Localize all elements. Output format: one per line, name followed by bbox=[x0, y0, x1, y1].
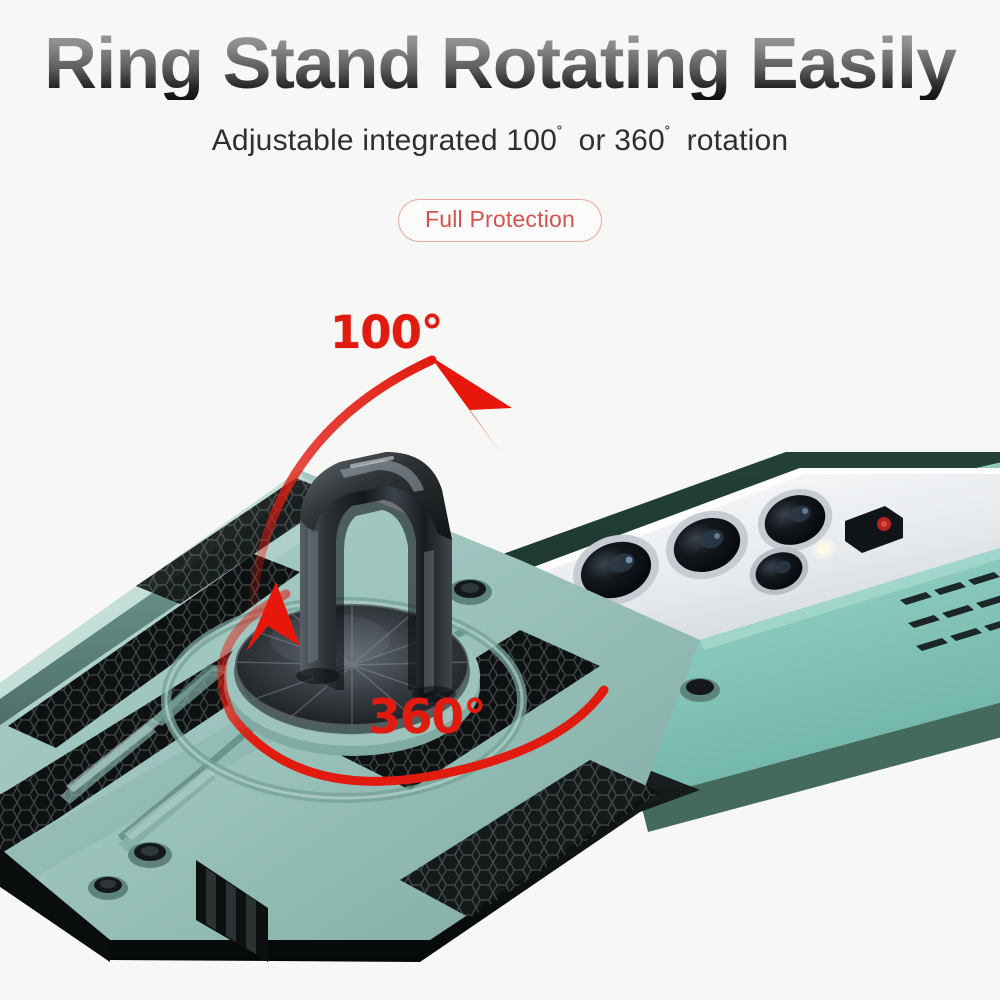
arc-100-arrowhead bbox=[430, 356, 512, 452]
product-marketing-image: Ring Stand Rotating Easily Adjustable in… bbox=[0, 0, 1000, 1000]
product-illustration bbox=[0, 0, 1000, 1000]
